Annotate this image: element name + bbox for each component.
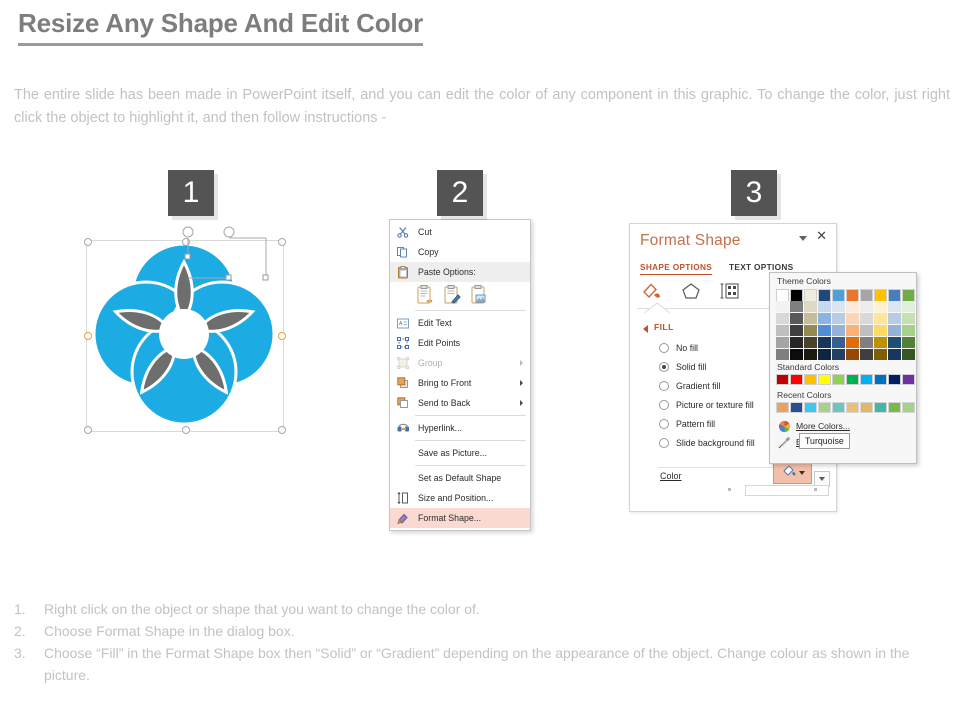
menu-item-group[interactable]: Group [390,353,530,373]
theme-swatch-3-8[interactable] [888,325,901,336]
scissors-icon [393,224,413,240]
step-badge-1: 1 [168,170,214,216]
radio-mark [659,343,669,353]
theme-swatch-3-9[interactable] [902,325,915,336]
standard-swatch-3[interactable] [818,374,831,385]
theme-swatch-2-9[interactable] [902,313,915,324]
tab-text-options[interactable]: TEXT OPTIONS [729,262,793,272]
theme-swatch-2-8[interactable] [888,313,901,324]
menu-item-hyperlink[interactable]: Hyperlink... [390,418,530,438]
theme-swatch-5-7[interactable] [874,349,887,360]
format-shape-title: Format Shape [640,232,741,250]
recent-swatch-5[interactable] [846,402,859,413]
theme-swatch-2-3[interactable] [818,313,831,324]
radio-label: Picture or texture fill [676,400,754,410]
menu-item-label: Format Shape... [413,513,481,523]
chevron-down-icon [819,477,825,481]
radio-mark [659,400,669,410]
menu-separator [415,415,526,416]
size-properties-icon[interactable] [719,281,741,306]
paste-merge-formatting-icon[interactable] [443,285,461,305]
theme-swatch-4-7[interactable] [874,337,887,348]
recent-swatch-8[interactable] [888,402,901,413]
theme-swatch-3-6[interactable] [860,325,873,336]
eyedropper-icon [776,435,792,449]
active-tab-indicator [644,302,670,314]
list-item: 1. Right click on the object or shape th… [14,598,944,620]
menu-item-paste-options[interactable]: Paste Options: [390,262,530,282]
more-colors-action[interactable]: More Colors... [776,419,850,433]
recent-swatch-1[interactable] [790,402,803,413]
theme-swatch-1-4[interactable] [832,301,845,312]
list-text: Right click on the object or shape that … [44,598,944,620]
fill-section-title: FILL [654,322,674,332]
group-icon [393,355,413,371]
selection-handle-mr[interactable] [278,332,286,340]
theme-swatch-4-9[interactable] [902,337,915,348]
theme-swatch-4-2[interactable] [804,337,817,348]
recent-swatch-9[interactable] [902,402,915,413]
theme-swatch-3-3[interactable] [818,325,831,336]
bring-front-icon [393,375,413,391]
radio-label: Pattern fill [676,419,715,429]
standard-swatch-0[interactable] [776,374,789,385]
theme-swatch-3-7[interactable] [874,325,887,336]
theme-swatch-4-8[interactable] [888,337,901,348]
theme-swatch-2-7[interactable] [874,313,887,324]
adjust-handle-c [263,275,268,280]
menu-item-label: Paste Options: [413,267,476,277]
menu-item-label: Set as Default Shape [413,473,501,483]
standard-swatch-2[interactable] [804,374,817,385]
list-text: Choose Format Shape in the dialog box. [44,620,944,642]
theme-swatch-3-0[interactable] [776,325,789,336]
recent-swatch-2[interactable] [804,402,817,413]
slider-tick-right [814,488,817,491]
menu-item-label: Group [413,358,442,368]
menu-item-cut[interactable]: Cut [390,222,530,242]
selection-handle-bc[interactable] [182,426,190,434]
collapse-triangle-icon[interactable] [643,325,648,333]
theme-swatch-2-4[interactable] [832,313,845,324]
fill-options-group[interactable]: No fill Solid fill Gradient fill Picture… [659,338,755,452]
copy-icon [393,244,413,260]
list-number: 1. [14,598,44,620]
no-icon [393,445,413,461]
theme-swatch-3-2[interactable] [804,325,817,336]
edit-points-icon [393,335,413,351]
menu-item-save-as-picture[interactable]: Save as Picture... [390,443,530,463]
radio-mark [659,381,669,391]
standard-swatch-6[interactable] [860,374,873,385]
menu-item-label: Edit Points [413,338,460,348]
radio-solid-fill[interactable]: Solid fill [659,357,755,376]
size-position-icon [393,490,413,506]
slider-tick-left [728,488,731,491]
paste-keep-formatting-icon[interactable] [416,285,434,305]
theme-swatch-2-0[interactable] [776,313,789,324]
menu-separator [415,310,526,311]
hyperlink-icon [393,420,413,436]
clipboard-icon [393,264,413,280]
menu-item-send-to-back[interactable]: Send to Back [390,393,530,413]
menu-item-format-shape[interactable]: Format Shape... [390,508,530,528]
theme-swatch-1-3[interactable] [818,301,831,312]
list-item: 2. Choose Format Shape in the dialog box… [14,620,944,642]
recent-swatch-6[interactable] [860,402,873,413]
menu-item-copy[interactable]: Copy [390,242,530,262]
menu-separator [415,440,526,441]
selection-handle-tl[interactable] [84,238,92,246]
color-wheel-icon [776,419,792,433]
radio-mark [659,438,669,448]
recent-colors-label: Recent Colors [770,387,831,402]
standard-swatch-1[interactable] [790,374,803,385]
radio-gradient-fill[interactable]: Gradient fill [659,376,755,395]
theme-swatch-2-5[interactable] [846,313,859,324]
close-icon[interactable]: ✕ [816,229,827,243]
fill-color-icon [781,463,797,483]
menu-item-bring-to-front[interactable]: Bring to Front [390,373,530,393]
menu-item-edit-points[interactable]: Edit Points [390,333,530,353]
menu-item-label: Copy [413,247,439,257]
recent-colors-grid[interactable] [776,402,915,413]
menu-item-label: Send to Back [413,398,470,408]
effects-icon[interactable] [680,281,702,306]
radio-label: No fill [676,343,698,353]
chevron-right-icon [520,400,523,406]
selection-handle-bl[interactable] [84,426,92,434]
theme-swatch-1-2[interactable] [804,301,817,312]
standard-swatch-8[interactable] [888,374,901,385]
radio-slide-background-fill[interactable]: Slide background fill [659,433,755,452]
menu-item-set-as-default-shape[interactable]: Set as Default Shape [390,468,530,488]
chevron-down-icon[interactable] [799,471,805,475]
list-number: 3. [14,642,44,686]
chevron-down-icon[interactable] [799,236,807,241]
theme-swatch-4-6[interactable] [860,337,873,348]
radio-label: Solid fill [676,362,706,372]
theme-swatch-4-5[interactable] [846,337,859,348]
menu-separator [415,465,526,466]
standard-colors-grid[interactable] [776,374,915,385]
standard-colors-label: Standard Colors [770,359,839,374]
step-badge-3: 3 [731,170,777,216]
radio-mark [659,419,669,429]
theme-colors-label: Theme Colors [770,273,916,288]
radio-label: Slide background fill [676,438,755,448]
theme-swatch-5-5[interactable] [846,349,859,360]
theme-swatch-4-3[interactable] [818,337,831,348]
list-number: 2. [14,620,44,642]
context-menu[interactable]: Cut Copy Paste Options: A Edit Text [389,219,531,531]
intro-paragraph: The entire slide has been made in PowerP… [14,84,950,130]
theme-swatch-3-4[interactable] [832,325,845,336]
fill-color-button[interactable] [773,461,812,484]
theme-swatch-5-8[interactable] [888,349,901,360]
theme-swatch-2-6[interactable] [860,313,873,324]
step-badge-2: 2 [437,170,483,216]
paste-options-row[interactable] [390,282,530,308]
standard-swatch-7[interactable] [874,374,887,385]
color-tooltip: Turquoise [799,433,850,449]
standard-swatch-5[interactable] [846,374,859,385]
no-icon [393,470,413,486]
recent-swatch-0[interactable] [776,402,789,413]
tab-shape-options[interactable]: SHAPE OPTIONS [640,262,712,275]
radio-mark [659,362,669,372]
theme-swatch-1-6[interactable] [860,301,873,312]
menu-item-size-and-position[interactable]: Size and Position... [390,488,530,508]
theme-swatch-5-9[interactable] [902,349,915,360]
recent-swatch-4[interactable] [832,402,845,413]
format-shape-icon [393,510,413,526]
theme-colors-grid[interactable] [776,289,915,360]
standard-swatch-4[interactable] [832,374,845,385]
selection-handle-ml[interactable] [84,332,92,340]
instructions-list: 1. Right click on the object or shape th… [14,598,944,686]
theme-swatch-4-4[interactable] [832,337,845,348]
page-title: Resize Any Shape And Edit Color [18,8,423,46]
list-item: 3. Choose “Fill” in the Format Shape box… [14,642,944,686]
edit-text-icon: A [393,315,413,331]
color-label: Color [660,471,682,481]
theme-swatch-5-6[interactable] [860,349,873,360]
radio-picture-or-texture-fill[interactable]: Picture or texture fill [659,395,755,414]
adjust-handle-a [185,254,190,259]
theme-swatch-1-7[interactable] [874,301,887,312]
selection-handle-br[interactable] [278,426,286,434]
theme-swatch-1-1[interactable] [790,301,803,312]
theme-swatch-1-9[interactable] [902,301,915,312]
theme-swatch-3-1[interactable] [790,325,803,336]
standard-swatch-9[interactable] [902,374,915,385]
adjust-handle-b [226,275,231,280]
recent-swatch-3[interactable] [818,402,831,413]
theme-swatch-1-0[interactable] [776,301,789,312]
recent-swatch-7[interactable] [874,402,887,413]
theme-swatch-1-8[interactable] [888,301,901,312]
chevron-right-icon [520,360,523,366]
menu-item-label: Size and Position... [413,493,493,503]
menu-item-label: Hyperlink... [413,423,462,433]
theme-swatch-3-5[interactable] [846,325,859,336]
radio-pattern-fill[interactable]: Pattern fill [659,414,755,433]
shape-rotate-and-adjust-handles[interactable] [180,222,290,312]
menu-item-label: Edit Text [413,318,452,328]
menu-item-label: Cut [413,227,432,237]
more-colors-label: More Colors... [796,421,850,431]
menu-item-label: Bring to Front [413,378,471,388]
theme-swatch-2-1[interactable] [790,313,803,324]
radio-no-fill[interactable]: No fill [659,338,755,357]
theme-swatch-2-2[interactable] [804,313,817,324]
paste-picture-icon[interactable] [470,285,488,305]
menu-item-edit-text[interactable]: A Edit Text [390,313,530,333]
theme-swatch-4-0[interactable] [776,337,789,348]
theme-swatch-1-5[interactable] [846,301,859,312]
list-text: Choose “Fill” in the Format Shape box th… [44,642,944,686]
theme-swatch-4-1[interactable] [790,337,803,348]
send-back-icon [393,395,413,411]
menu-item-label: Save as Picture... [413,448,487,458]
chevron-right-icon [520,380,523,386]
divider [658,467,788,468]
radio-label: Gradient fill [676,381,721,391]
